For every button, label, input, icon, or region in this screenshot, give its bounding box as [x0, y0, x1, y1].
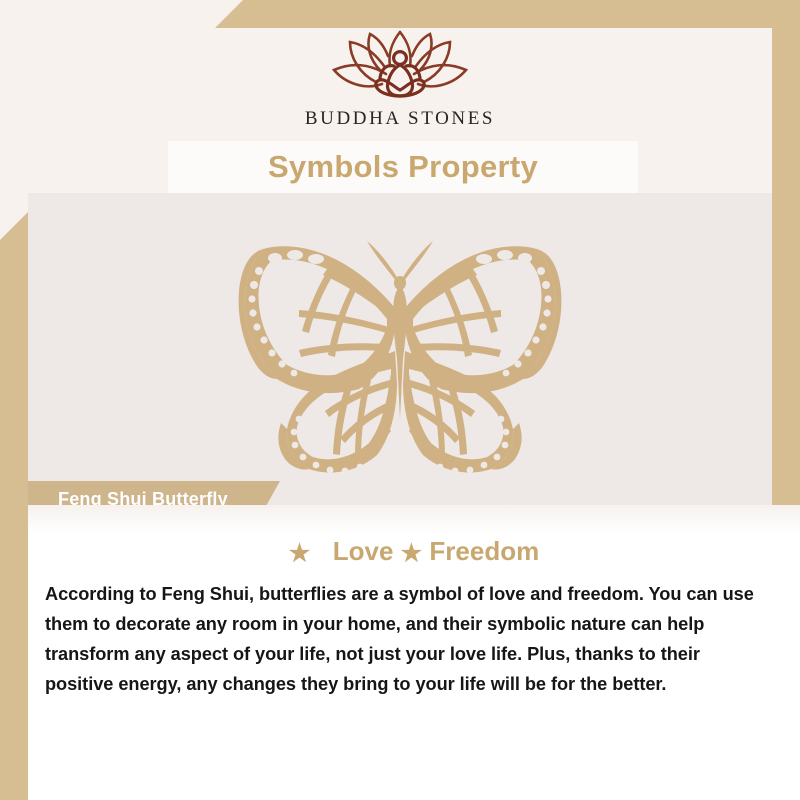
- frame-top-band: [215, 0, 800, 28]
- description-paragraph: According to Feng Shui, butterflies are …: [23, 579, 795, 699]
- keywords-headline: ★ Love ★ Freedom: [28, 536, 800, 567]
- keyword-freedom: Freedom: [429, 536, 539, 566]
- poster-canvas: BUDDHA STONES Symbols Property: [28, 28, 772, 772]
- title-bar: Symbols Property: [168, 141, 638, 193]
- frame-left-band: [0, 212, 28, 800]
- content-fade: [28, 505, 800, 533]
- content-area: ★ Love ★ Freedom According to Feng Shui,…: [28, 505, 800, 800]
- butterfly-icon: [219, 227, 581, 477]
- brand-logo: BUDDHA STONES: [28, 28, 772, 143]
- hero-panel: [28, 193, 772, 505]
- page-title: Symbols Property: [268, 149, 538, 185]
- lotus-meditation-icon: [326, 28, 474, 106]
- keyword-love: Love: [333, 536, 394, 566]
- star-icon-middle: ★: [401, 540, 423, 567]
- brand-name: BUDDHA STONES: [305, 108, 495, 130]
- star-icon-left: ★: [289, 540, 311, 567]
- poster-root: BUDDHA STONES Symbols Property: [0, 0, 800, 800]
